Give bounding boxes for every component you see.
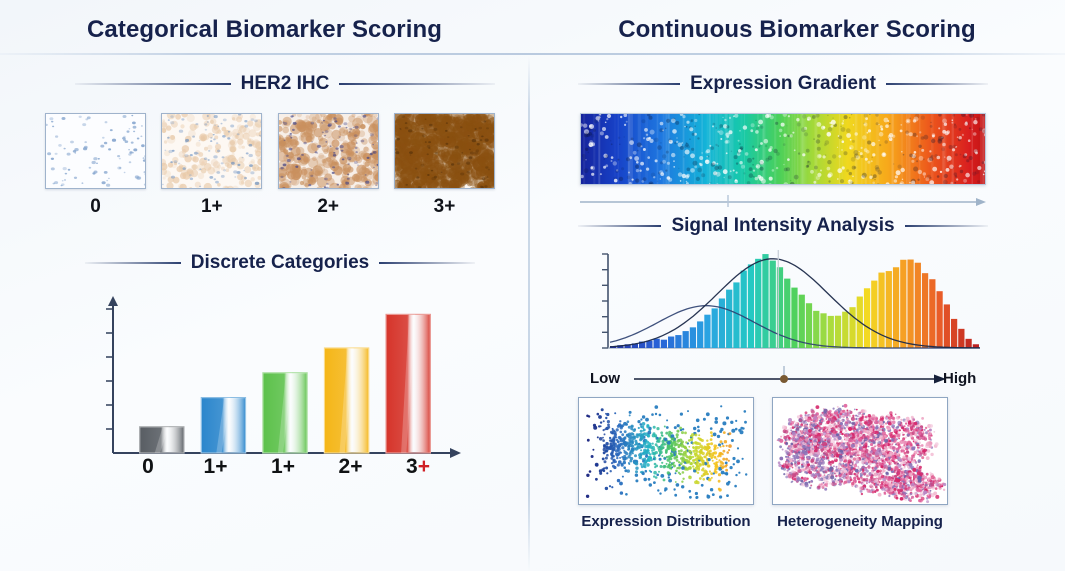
histogram-canvas [588, 248, 986, 366]
heterogeneity-mapping-panel[interactable] [772, 397, 948, 505]
ihc-tile-row [45, 113, 495, 193]
axis-label-high: High [943, 370, 976, 387]
right-panel-title: Continuous Biomarker Scoring [529, 16, 1065, 44]
section-title-her2-ihc: HER2 IHC [241, 73, 330, 95]
rule-right [339, 83, 495, 85]
ihc-label-3plus: 3+ [394, 196, 495, 222]
section-header-discrete-categories: Discrete Categories [85, 252, 475, 274]
section-title-signal-intensity: Signal Intensity Analysis [671, 215, 894, 237]
bar-x-label-4: 3+ [388, 455, 448, 485]
heterogeneity-map [773, 398, 948, 505]
axis-label-low: Low [590, 370, 620, 387]
ihc-tile-labels: 0 1+ 2+ 3+ [45, 196, 495, 222]
ihc-tile-2plus[interactable] [278, 113, 379, 189]
ihc-texture-1plus [162, 114, 262, 189]
rule-right [379, 262, 475, 264]
expression-gradient-bar[interactable] [580, 113, 986, 185]
section-header-her2-ihc: HER2 IHC [75, 73, 495, 95]
bar-chart-x-labels: 0 1+ 1+ 2+ 3+ [118, 455, 448, 485]
caption-heterogeneity-mapping: Heterogeneity Mapping [760, 513, 960, 530]
ihc-label-2plus: 2+ [278, 196, 379, 222]
bar-x-label-3: 2+ [321, 455, 381, 485]
expression-distribution-scatter [579, 398, 754, 505]
gradient-axis [578, 193, 990, 209]
rule-left [578, 225, 661, 227]
left-panel-title: Categorical Biomarker Scoring [0, 16, 529, 44]
section-header-signal-intensity: Signal Intensity Analysis [578, 215, 988, 237]
figure-header: Categorical Biomarker Scoring Continuous… [0, 0, 1065, 55]
rule-right [905, 225, 988, 227]
bar-x-label-0: 0 [118, 455, 178, 485]
header-divider-rule [0, 53, 1065, 55]
ihc-tile-1plus[interactable] [161, 113, 262, 189]
section-title-discrete-categories: Discrete Categories [191, 252, 369, 274]
signal-intensity-histogram [588, 248, 986, 366]
expression-distribution-panel[interactable] [578, 397, 754, 505]
rule-right [886, 83, 988, 85]
ihc-texture-0 [46, 114, 146, 189]
ihc-tile-3plus[interactable] [394, 113, 495, 189]
section-header-expression-gradient: Expression Gradient [578, 73, 988, 95]
rule-left [85, 262, 181, 264]
caption-expression-distribution: Expression Distribution [566, 513, 766, 530]
bar-x-label-2: 1+ [253, 455, 313, 485]
bar-x-label-1: 1+ [186, 455, 246, 485]
rule-left [578, 83, 680, 85]
ihc-tile-0[interactable] [45, 113, 146, 189]
figure-root: Categorical Biomarker Scoring Continuous… [0, 0, 1065, 571]
ihc-label-0: 0 [45, 196, 146, 222]
rule-left [75, 83, 231, 85]
ihc-label-1plus: 1+ [161, 196, 262, 222]
section-title-expression-gradient: Expression Gradient [690, 73, 876, 95]
signal-intensity-axis [586, 366, 990, 392]
column-divider [528, 57, 530, 571]
bar-chart-bars [140, 314, 431, 453]
ihc-texture-3plus [395, 114, 495, 189]
gradient-speckle-texture [581, 114, 986, 185]
ihc-texture-2plus [279, 114, 379, 189]
